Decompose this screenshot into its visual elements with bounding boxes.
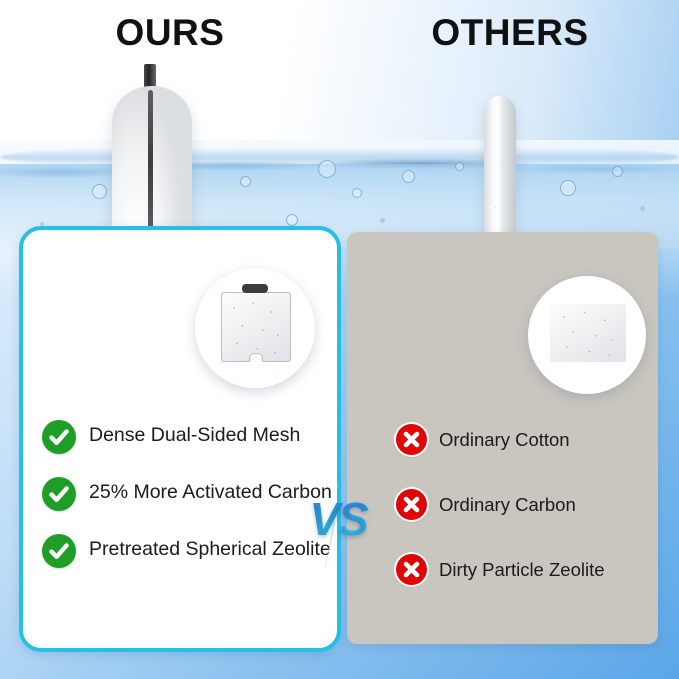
list-item: 25% More Activated Carbon [42, 477, 332, 511]
detail-inset-ours [195, 268, 315, 388]
water-bubble [318, 160, 336, 178]
list-item: Dense Dual-Sided Mesh [42, 420, 332, 454]
water-bubble [560, 180, 576, 196]
water-bubble [352, 188, 362, 198]
feature-list-ours: Dense Dual-Sided Mesh 25% More Activated… [42, 420, 332, 591]
filter-cartridge-closeup-ours [221, 292, 291, 362]
detail-inset-others [528, 276, 646, 394]
cross-circle-icon [396, 489, 427, 520]
feature-list-others: Ordinary Cotton Ordinary Carbon Dirty Pa… [396, 424, 656, 619]
heading-ours: OURS [0, 12, 340, 54]
heading-others: OTHERS [340, 12, 679, 54]
water-bubble [455, 162, 464, 171]
feature-label: Ordinary Cotton [439, 424, 570, 452]
water-bubble [286, 214, 298, 226]
water-bubble [402, 170, 415, 183]
feature-label: Pretreated Spherical Zeolite [89, 534, 331, 562]
water-droplet [380, 218, 385, 223]
water-droplet [640, 206, 645, 211]
feature-label: Dirty Particle Zeolite [439, 554, 605, 582]
water-bubble [240, 176, 251, 187]
check-circle-icon [42, 420, 76, 454]
wave-crest [0, 148, 679, 166]
wave-surface-line [0, 156, 679, 182]
check-circle-icon [42, 477, 76, 511]
list-item: Dirty Particle Zeolite [396, 554, 656, 585]
filter-material-closeup-others [550, 304, 626, 362]
feature-label: Dense Dual-Sided Mesh [89, 420, 300, 448]
list-item: Ordinary Carbon [396, 489, 656, 520]
vs-badge: VS [296, 486, 380, 564]
vs-label: VS [296, 492, 380, 546]
comparison-infographic: OURS OTHERS Dense Dual-Sided Mesh [0, 0, 679, 679]
cross-circle-icon [396, 554, 427, 585]
cartridge-top-tab [242, 284, 268, 293]
list-item: Pretreated Spherical Zeolite [42, 534, 332, 568]
cartridge-notch [249, 353, 263, 362]
cross-circle-icon [396, 424, 427, 455]
list-item: Ordinary Cotton [396, 424, 656, 455]
water-bubble [612, 166, 623, 177]
feature-label: Ordinary Carbon [439, 489, 576, 517]
check-circle-icon [42, 534, 76, 568]
